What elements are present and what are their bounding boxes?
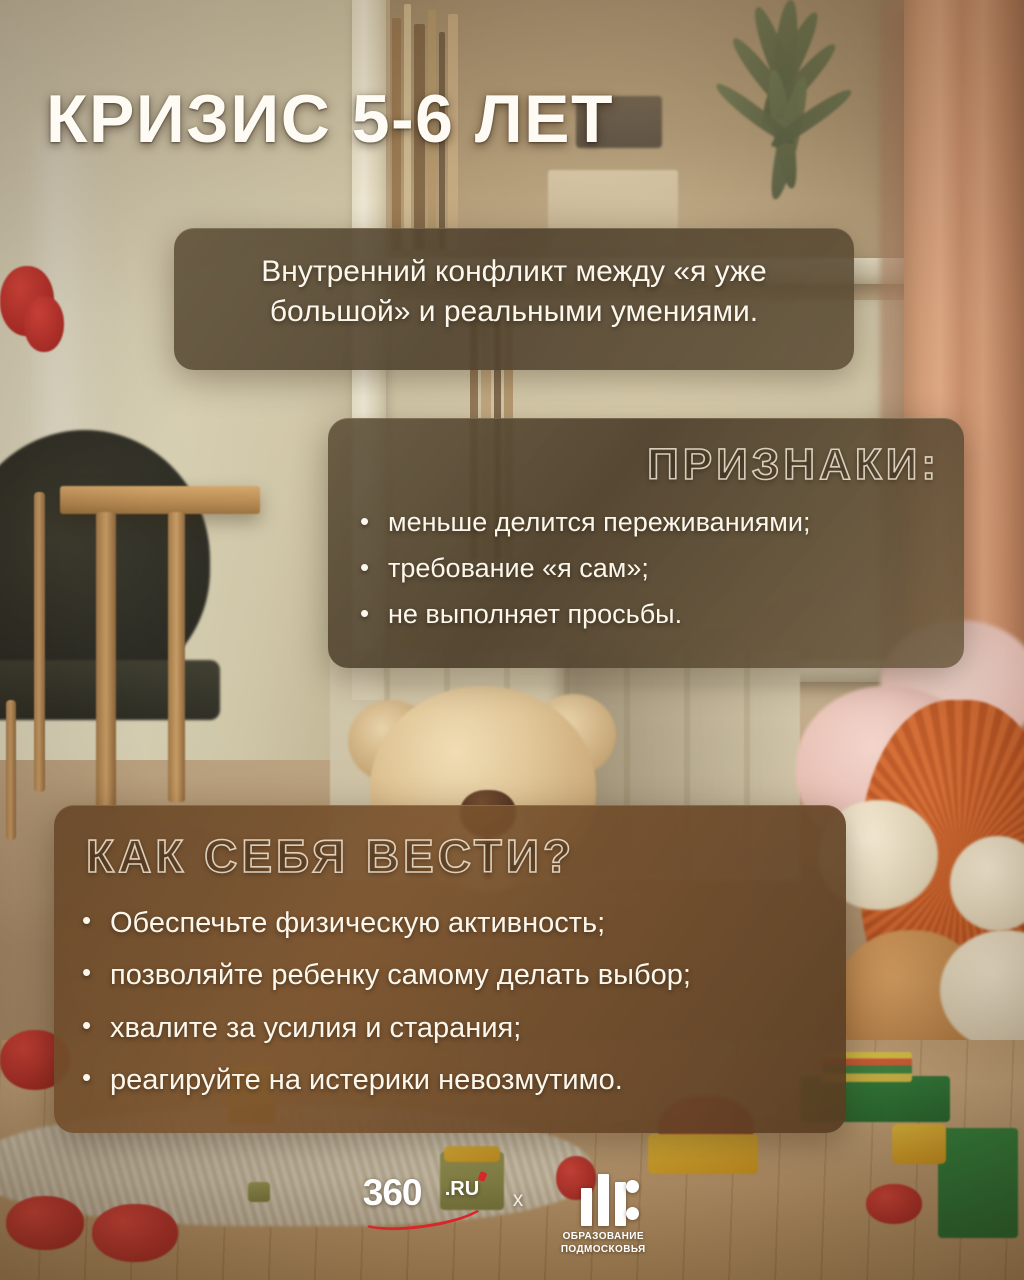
toy-yellow-ring xyxy=(648,1134,758,1174)
flower-red-left-2 xyxy=(24,296,64,352)
list-item: реагируйте на истерики невозмутимо. xyxy=(76,1062,691,1098)
list-item: не выполняет просьбы. xyxy=(354,598,810,632)
table-top xyxy=(60,486,260,514)
logo-dots-icon xyxy=(626,1180,639,1234)
list-item: требование «я сам»; xyxy=(354,552,810,586)
page-title: КРИЗИС 5-6 ЛЕТ xyxy=(46,85,614,153)
toy-yellow-small xyxy=(892,1124,946,1164)
logo-360ru: 360 .RU xyxy=(363,1174,491,1218)
potted-plant xyxy=(700,0,890,250)
signs-card: ПРИЗНАКИ: меньше делится переживаниями; … xyxy=(328,418,964,668)
signs-heading: ПРИЗНАКИ: xyxy=(647,440,940,490)
list-item: хвалите за усилия и старания; xyxy=(76,1010,691,1046)
collab-separator: x xyxy=(513,1188,524,1212)
chair-leg-front xyxy=(6,700,16,840)
advice-card: КАК СЕБЯ ВЕСТИ? Обеспечьте физическую ак… xyxy=(54,805,846,1133)
definition-text: Внутренний конфликт между «я уже большой… xyxy=(174,252,854,331)
logo-caption-line2: ПОДМОСКОВЬЯ xyxy=(561,1244,646,1255)
list-item: меньше делится переживаниями; xyxy=(354,506,810,540)
table-leg-right xyxy=(168,512,185,802)
toy-yellow-cap xyxy=(444,1146,500,1162)
advice-heading: КАК СЕБЯ ВЕСТИ? xyxy=(86,829,575,883)
poster: КРИЗИС 5-6 ЛЕТ Внутренний конфликт между… xyxy=(0,0,1024,1280)
definition-card: Внутренний конфликт между «я уже большой… xyxy=(174,228,854,370)
chair-leg-left xyxy=(34,492,45,792)
list-item: Обеспечьте физическую активность; xyxy=(76,905,691,941)
logo-bars-icon xyxy=(545,1174,661,1226)
table-leg-left xyxy=(96,512,116,812)
signs-list: меньше делится переживаниями; требование… xyxy=(354,506,810,643)
logo-education-podmoskovya: ОБРАЗОВАНИЕ ПОДМОСКОВЬЯ xyxy=(545,1174,661,1256)
list-item: позволяйте ребенку самому делать выбор; xyxy=(76,957,691,993)
advice-list: Обеспечьте физическую активность; позвол… xyxy=(76,905,691,1114)
logo-education-caption: ОБРАЗОВАНИЕ ПОДМОСКОВЬЯ xyxy=(545,1231,661,1256)
footer-logos: 360 .RU x ОБРАЗОВАНИЕ ПОДМОСКОВЬЯ xyxy=(0,1174,1024,1254)
